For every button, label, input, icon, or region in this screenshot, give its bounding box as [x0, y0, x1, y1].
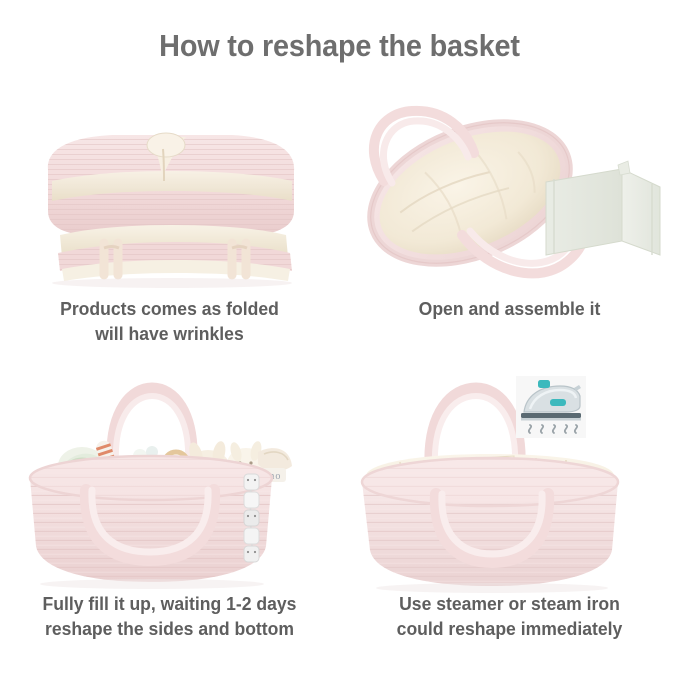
step-card-4: Use steamer or steam iron could reshape … — [340, 370, 679, 667]
step-card-3: eeno — [0, 370, 339, 667]
step-caption-3-line-2: reshape the sides and bottom — [8, 617, 330, 642]
infographic-page: How to reshape the basket — [0, 0, 679, 679]
step-caption-4-line-2: could reshape immediately — [348, 617, 670, 642]
step-caption-3-line-1: Fully fill it up, waiting 1-2 days — [8, 592, 330, 617]
step-caption-4-line-1: Use steamer or steam iron — [348, 592, 670, 617]
step-card-2: Open and assemble it — [340, 85, 679, 382]
steamed-basket-illustration — [340, 370, 679, 595]
filled-basket-illustration: eeno — [0, 370, 339, 595]
step-card-1: Products comes as folded will have wrink… — [0, 85, 339, 382]
step-caption-4: Use steamer or steam iron could reshape … — [348, 592, 670, 641]
folded-basket-illustration — [0, 85, 339, 300]
step-caption-1-line-2: will have wrinkles — [8, 322, 330, 347]
step-caption-1-line-1: Products comes as folded — [8, 297, 330, 322]
page-title: How to reshape the basket — [24, 28, 655, 64]
step-caption-2-line-1: Open and assemble it — [348, 297, 670, 322]
open-basket-top-view-illustration — [340, 85, 679, 300]
steps-grid: Products comes as folded will have wrink… — [0, 85, 679, 679]
step-caption-1: Products comes as folded will have wrink… — [8, 297, 330, 346]
step-caption-3: Fully fill it up, waiting 1-2 days resha… — [8, 592, 330, 641]
step-caption-2: Open and assemble it — [348, 297, 670, 322]
bead-garland — [244, 474, 259, 562]
steam-iron-icon — [516, 376, 586, 438]
